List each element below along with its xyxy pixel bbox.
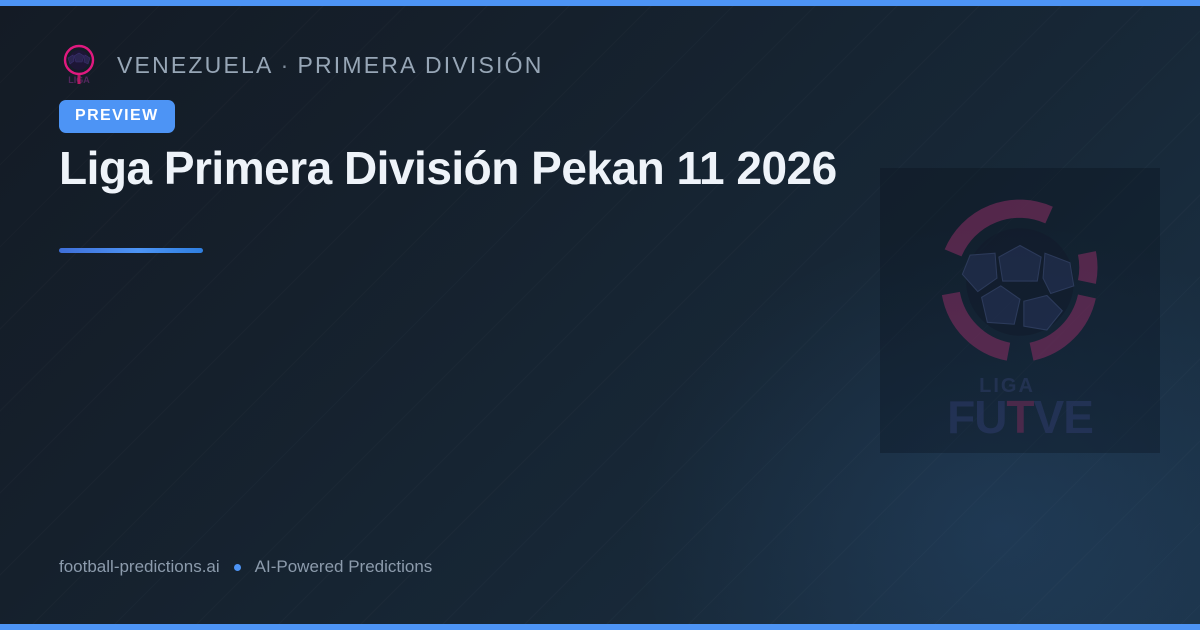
crest-futve-part-a: FU (947, 391, 1006, 443)
broken-ring-icon (924, 186, 1116, 378)
content-column: LIGA VENEZUELA·PRIMERA DIVISIÓN PREVIEW … (59, 0, 859, 630)
footer-tagline: AI-Powered Predictions (255, 557, 433, 577)
bottom-accent-bar (0, 624, 1200, 630)
og-preview-card: LIGA FUTVE LIGA VENEZUELA·PRIMERA DIVISI… (0, 0, 1200, 630)
league-label: VENEZUELA·PRIMERA DIVISIÓN (117, 52, 544, 79)
league-separator: · (281, 52, 291, 78)
crest-wordmark: LIGA FUTVE (880, 376, 1160, 440)
top-accent-bar (0, 0, 1200, 6)
footer: football-predictions.ai AI-Powered Predi… (59, 557, 432, 577)
crest-futve-text: FUTVE (880, 394, 1160, 440)
league-crest-panel: LIGA FUTVE (880, 168, 1160, 453)
league-country: VENEZUELA (117, 52, 274, 78)
liga-futve-circle-icon: LIGA (59, 42, 99, 88)
league-competition: PRIMERA DIVISIÓN (297, 52, 543, 78)
bullet-dot-icon (234, 564, 241, 571)
league-header: LIGA VENEZUELA·PRIMERA DIVISIÓN (59, 42, 544, 88)
status-badge: PREVIEW (59, 100, 175, 133)
crest-futve-part-c: VE (1034, 391, 1093, 443)
league-crest-artwork: LIGA FUTVE (880, 168, 1160, 453)
page-title: Liga Primera División Pekan 11 2026 (59, 142, 1019, 195)
title-underline-accent (59, 248, 203, 253)
crest-futve-part-t: T (1006, 391, 1033, 443)
footer-site-name: football-predictions.ai (59, 557, 220, 577)
